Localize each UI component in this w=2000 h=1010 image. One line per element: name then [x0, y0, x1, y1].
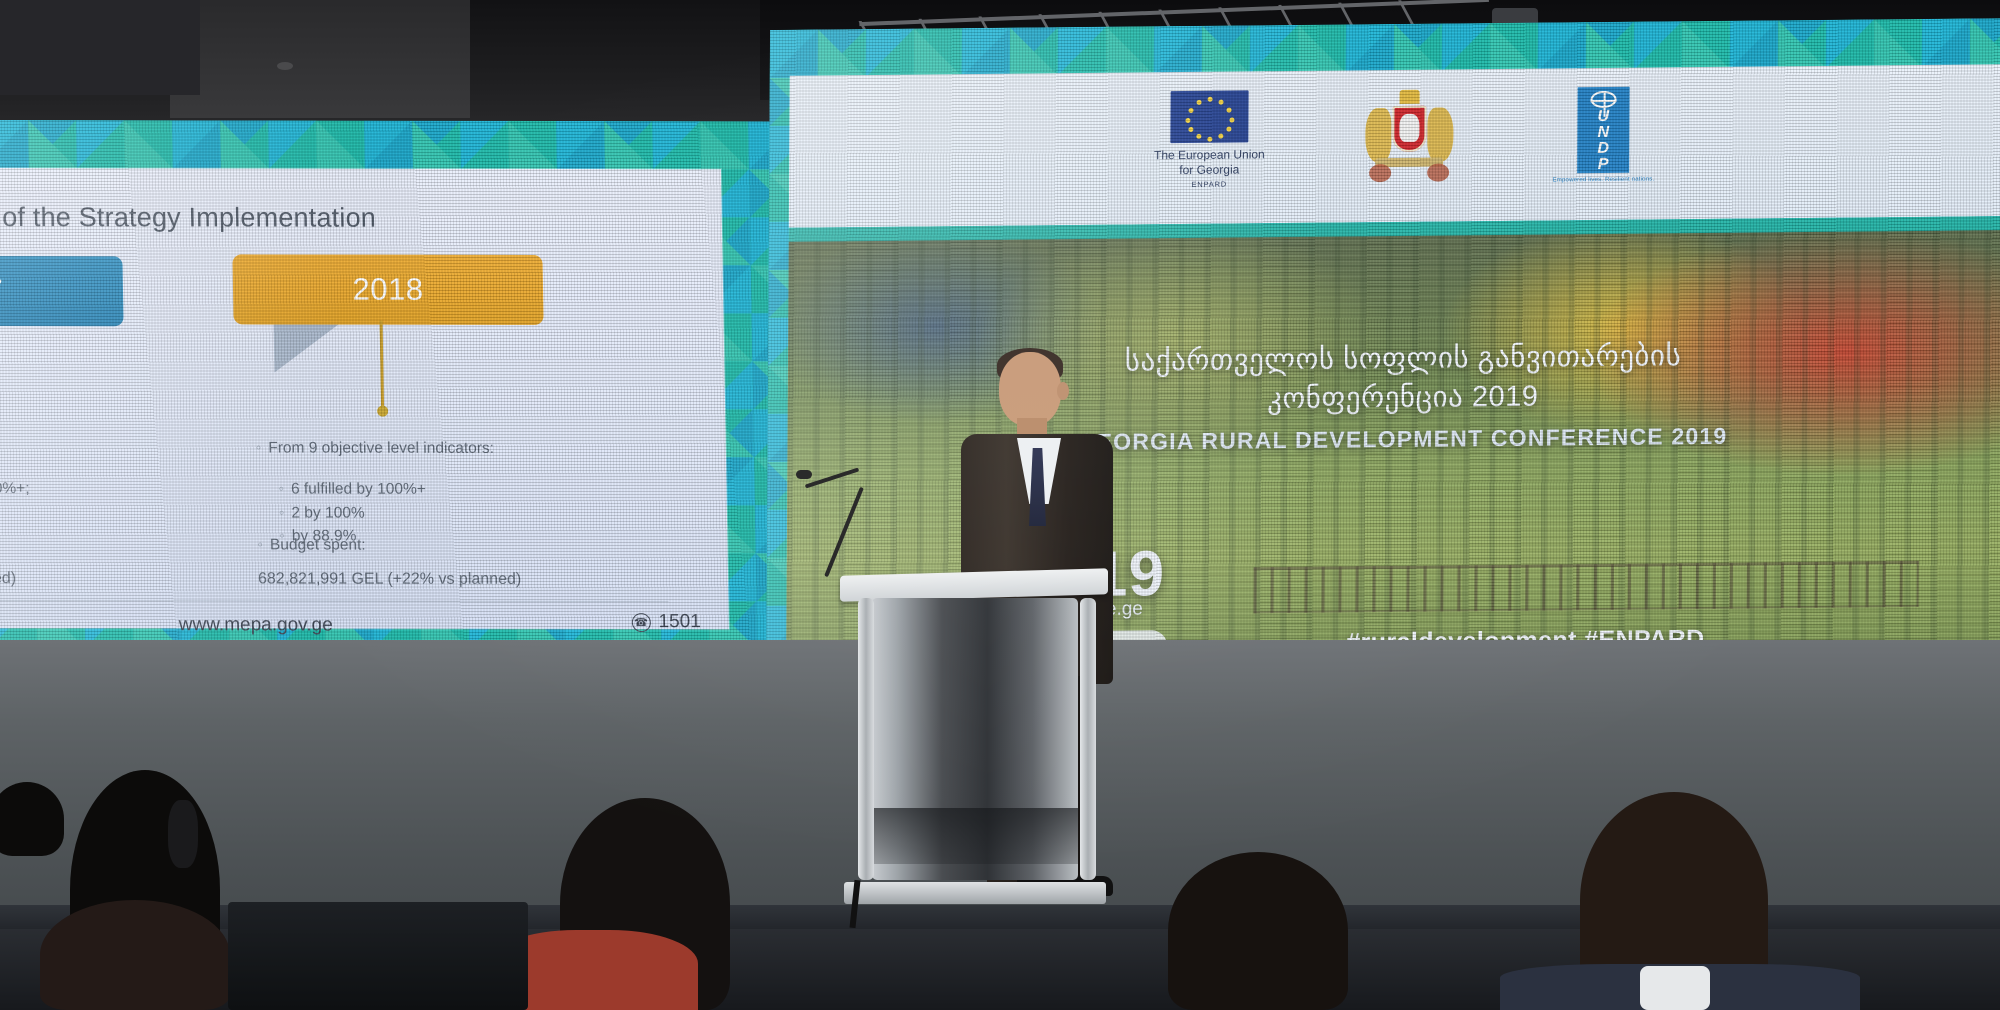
indicators-column-right: From 9 objective level indicators: 6 ful… [256, 436, 496, 547]
eu-caption: The European Union for Georgia ENPARD [1154, 147, 1265, 189]
phone-icon: ☎ [631, 613, 650, 632]
audience-head [1168, 852, 1348, 1010]
podium [848, 572, 1106, 924]
smoke-detector-icon [277, 62, 293, 70]
slide-title: ults of the Strategy Implementation [0, 202, 376, 234]
georgia-coat-of-arms-icon [1361, 85, 1458, 190]
indicators-column-left: level indicators: d by 100% or 100%+; d … [0, 436, 31, 547]
undp-letter: P [1598, 157, 1610, 173]
podium-base [844, 882, 1106, 904]
ministry-website: www.mepa.gov.ge [179, 614, 333, 636]
undp-logo: U N D P Empowered lives. Resilient natio… [1553, 87, 1655, 185]
indicators-right-item: 2 by 100% [279, 501, 496, 525]
year-pill-2017: 2017 [0, 256, 124, 327]
hotline: ☎ 1501 [631, 611, 701, 633]
conference-stage-scene: ults of the Strategy Implementation 2017… [0, 0, 2000, 1010]
audience-collar [1640, 966, 1710, 1010]
year-pill-2018: 2018 [232, 254, 543, 325]
led-wall-left: ults of the Strategy Implementation 2017… [0, 120, 780, 681]
budget-value-left: GEL (+38.3% vs planned) [0, 570, 16, 588]
ceiling-panel [170, 0, 470, 118]
timeline-stem-right [380, 321, 385, 409]
indicators-right-header: From 9 objective level indicators: [256, 436, 495, 460]
eu-caption-line2: for Georgia [1179, 162, 1239, 177]
indicators-left-item: d partially; [0, 500, 30, 524]
hotline-number: 1501 [658, 611, 701, 633]
indicators-left-header: level indicators: [0, 436, 29, 460]
eu-logo: The European Union for Georgia ENPARD [1154, 90, 1265, 189]
eu-caption-enpard: ENPARD [1154, 179, 1265, 189]
undp-logo-icon: U N D P [1578, 87, 1631, 173]
timeline-dot-right [377, 406, 388, 417]
stage-monitor [228, 902, 528, 1010]
podium-lower-band [872, 808, 1078, 864]
eu-flag-icon [1170, 90, 1248, 143]
speaker-head [999, 352, 1061, 426]
budget-spent-header: Budget spent: [257, 536, 366, 554]
photo-fence [1254, 561, 1919, 613]
undp-letters: U N D P [1597, 109, 1610, 173]
undp-caption: Empowered lives. Resilient nations. [1553, 177, 1655, 185]
logo-row: The European Union for Georgia ENPARD [789, 72, 2000, 204]
indicators-left-item: d by 100% or 100%+; [0, 477, 30, 501]
undp-letter: N [1597, 125, 1610, 141]
slide-divider [0, 600, 669, 602]
undp-globe-icon [1591, 91, 1617, 108]
eu-caption-line1: The European Union [1154, 147, 1265, 162]
audience-head [40, 900, 230, 1010]
podium-rail-right [1080, 598, 1096, 880]
podium-rail-left [858, 598, 874, 880]
budget-value-right: 682,821,991 GEL (+22% vs planned) [258, 570, 522, 588]
audience-headphones-icon [168, 800, 198, 868]
presentation-slide-left: ults of the Strategy Implementation 2017… [0, 168, 729, 629]
ceiling-panel-secondary [0, 0, 200, 95]
indicators-right-item: 6 fulfilled by 100%+ [278, 478, 495, 502]
undp-letter: D [1597, 141, 1610, 157]
speaker-ear [1057, 382, 1069, 400]
indicators-left-item: lled. [0, 523, 31, 547]
